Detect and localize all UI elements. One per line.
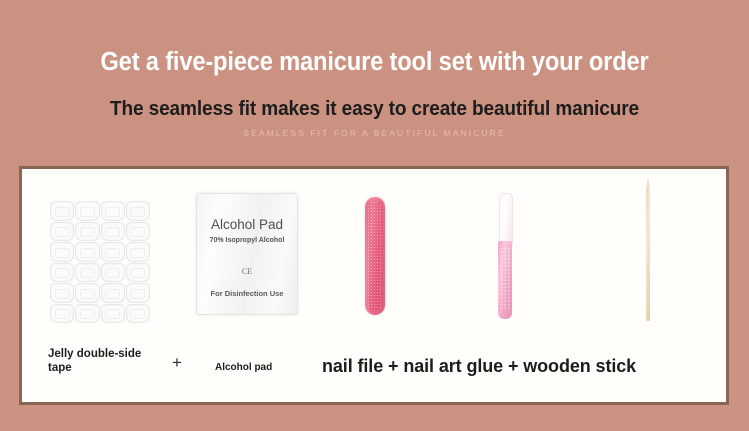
tape-tab xyxy=(126,242,150,262)
tape-tab xyxy=(101,201,125,221)
alcohol-pad-footer: For Disinfection Use xyxy=(197,276,297,298)
product-image-row: Alcohol Pad 70% Isopropyl Alcohol CE For… xyxy=(22,169,726,341)
product-image-wooden-stick xyxy=(570,169,726,341)
tape-tab xyxy=(75,222,99,242)
tape-tab xyxy=(126,222,150,242)
tape-tab xyxy=(101,304,125,324)
tape-tab xyxy=(50,222,74,242)
tape-tab xyxy=(126,263,150,283)
tape-tab xyxy=(50,201,74,221)
product-image-nail-art-glue xyxy=(440,169,570,341)
caption-alcohol-pad: Alcohol pad xyxy=(215,362,272,375)
ce-mark-icon: CE xyxy=(197,244,297,276)
tape-tab xyxy=(126,283,150,303)
glue-cap xyxy=(499,193,513,247)
tape-tab xyxy=(50,283,74,303)
tape-tab xyxy=(126,201,150,221)
product-image-jelly-tape xyxy=(22,169,188,341)
product-image-alcohol-pad: Alcohol Pad 70% Isopropyl Alcohol CE For… xyxy=(188,169,310,341)
caption-jelly-tape: Jelly double-side tape xyxy=(48,347,166,376)
product-panel-frame: Alcohol Pad 70% Isopropyl Alcohol CE For… xyxy=(19,166,729,405)
nail-file-shape xyxy=(365,197,385,315)
product-caption-row: Jelly double-side tape + Alcohol pad nai… xyxy=(22,336,726,402)
alcohol-pad-packet: Alcohol Pad 70% Isopropyl Alcohol CE For… xyxy=(196,193,298,315)
tape-tab xyxy=(50,242,74,262)
page-title: Get a five-piece manicure tool set with … xyxy=(26,0,723,76)
alcohol-pad-title: Alcohol Pad xyxy=(197,194,297,232)
tape-tab xyxy=(101,283,125,303)
tape-tab xyxy=(101,242,125,262)
tape-tab xyxy=(50,263,74,283)
product-image-nail-file xyxy=(310,169,440,341)
tape-tab xyxy=(50,304,74,324)
promo-headline-block: Get a five-piece manicure tool set with … xyxy=(0,0,749,138)
product-panel: Alcohol Pad 70% Isopropyl Alcohol CE For… xyxy=(22,169,726,402)
tape-tab xyxy=(101,263,125,283)
tape-tab xyxy=(75,242,99,262)
alcohol-pad-subtitle: 70% Isopropyl Alcohol xyxy=(197,232,297,244)
caption-remaining-tools: nail file + nail art glue + wooden stick xyxy=(322,355,636,378)
jelly-tape-sheet xyxy=(50,201,150,323)
promo-caption: SEAMLESS FIT FOR A BEAUTIFUL MANICURE xyxy=(0,121,749,138)
caption-plus-sign: + xyxy=(172,352,182,373)
tape-tab xyxy=(75,263,99,283)
glue-pen-shape xyxy=(498,193,512,319)
wooden-stick-shape xyxy=(646,189,650,321)
tape-tab xyxy=(75,304,99,324)
tape-tab xyxy=(126,304,150,324)
tape-tab xyxy=(75,201,99,221)
promo-subheadline: The seamless fit makes it easy to create… xyxy=(26,76,723,121)
tape-tab xyxy=(75,283,99,303)
glue-body xyxy=(498,241,512,319)
tape-tab xyxy=(101,222,125,242)
